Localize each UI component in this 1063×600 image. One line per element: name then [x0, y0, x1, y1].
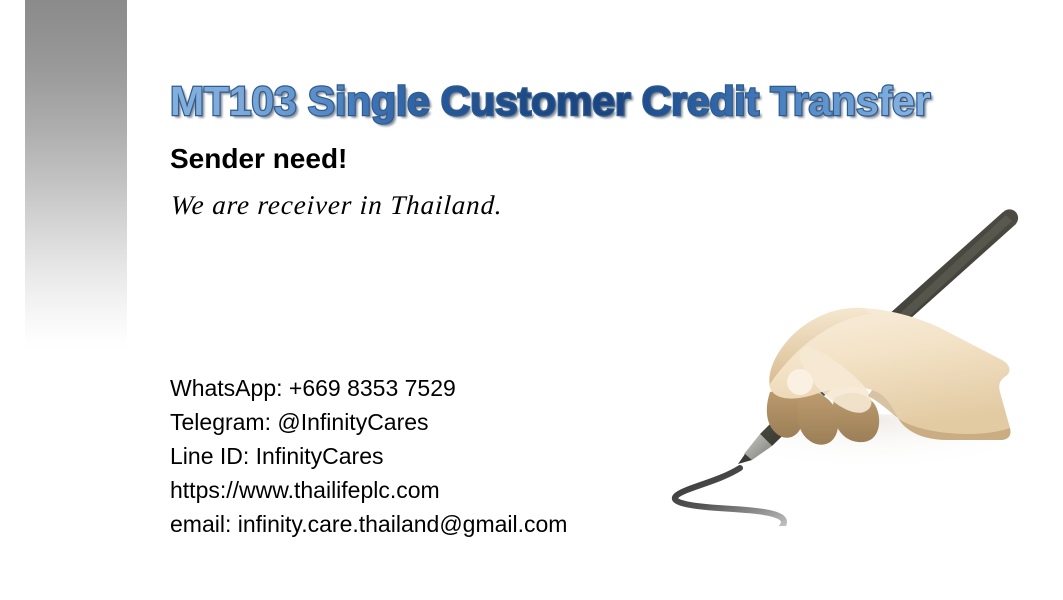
- page-title: MT103 Single Customer Credit Transfer: [170, 78, 930, 125]
- subtitle-text: We are receiver in Thailand.: [170, 190, 504, 221]
- headline-text: Sender need!: [170, 143, 347, 175]
- contact-line-website[interactable]: https://www.thailifeplc.com: [170, 473, 567, 507]
- contact-info-block: WhatsApp: +669 8353 7529 Telegram: @Infi…: [170, 371, 567, 541]
- contact-line-telegram: Telegram: @InfinityCares: [170, 405, 567, 439]
- hand-writing-illustration: [648, 196, 1048, 526]
- left-gradient-bar: [25, 0, 127, 352]
- contact-line-email[interactable]: email: infinity.care.thailand@gmail.com: [170, 507, 567, 541]
- slide-canvas: MT103 Single Customer Credit Transfer MT…: [0, 0, 1063, 600]
- signature-squiggle: [675, 468, 784, 526]
- contact-line-whatsapp: WhatsApp: +669 8353 7529: [170, 371, 567, 405]
- contact-line-lineid: Line ID: InfinityCares: [170, 439, 567, 473]
